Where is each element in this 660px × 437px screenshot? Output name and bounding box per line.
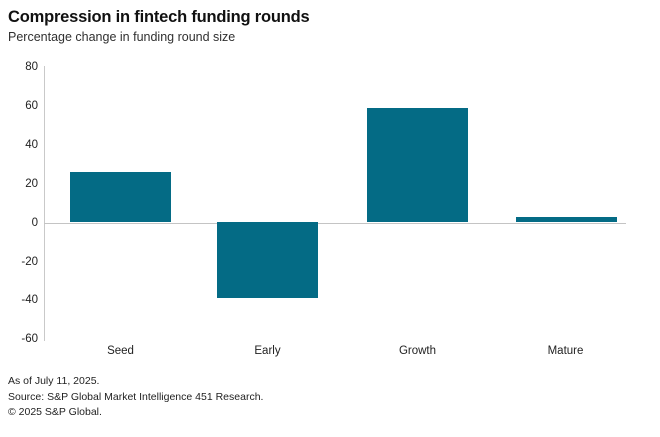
y-tick-label: 40 bbox=[4, 139, 38, 151]
plot-area: 80 60 40 20 0 -20 -40 -60 Seed Early Gr bbox=[0, 0, 660, 437]
footer-copyright: © 2025 S&P Global. bbox=[8, 405, 263, 421]
bar-mature[interactable] bbox=[516, 217, 617, 223]
footer-as-of: As of July 11, 2025. bbox=[8, 374, 263, 390]
y-tick-label: 80 bbox=[4, 61, 38, 73]
y-tick-label: 60 bbox=[4, 100, 38, 112]
y-tick-label: -20 bbox=[4, 256, 38, 268]
zero-baseline bbox=[44, 223, 626, 224]
y-tick-label: 20 bbox=[4, 178, 38, 190]
y-tick-label: -40 bbox=[4, 294, 38, 306]
y-tick-label: -60 bbox=[4, 333, 38, 345]
x-tick-label-early: Early bbox=[217, 345, 318, 357]
footer: As of July 11, 2025. Source: S&P Global … bbox=[8, 374, 263, 421]
x-tick-label-growth: Growth bbox=[367, 345, 468, 357]
footer-source: Source: S&P Global Market Intelligence 4… bbox=[8, 390, 263, 406]
bar-early[interactable] bbox=[217, 222, 318, 298]
y-tick-label: 0 bbox=[4, 217, 38, 229]
x-tick-label-mature: Mature bbox=[515, 345, 616, 357]
y-axis-line bbox=[44, 66, 45, 341]
x-tick-label-seed: Seed bbox=[70, 345, 171, 357]
chart-container: Compression in fintech funding rounds Pe… bbox=[0, 0, 660, 437]
bar-seed[interactable] bbox=[70, 172, 171, 223]
bar-growth[interactable] bbox=[367, 108, 468, 223]
